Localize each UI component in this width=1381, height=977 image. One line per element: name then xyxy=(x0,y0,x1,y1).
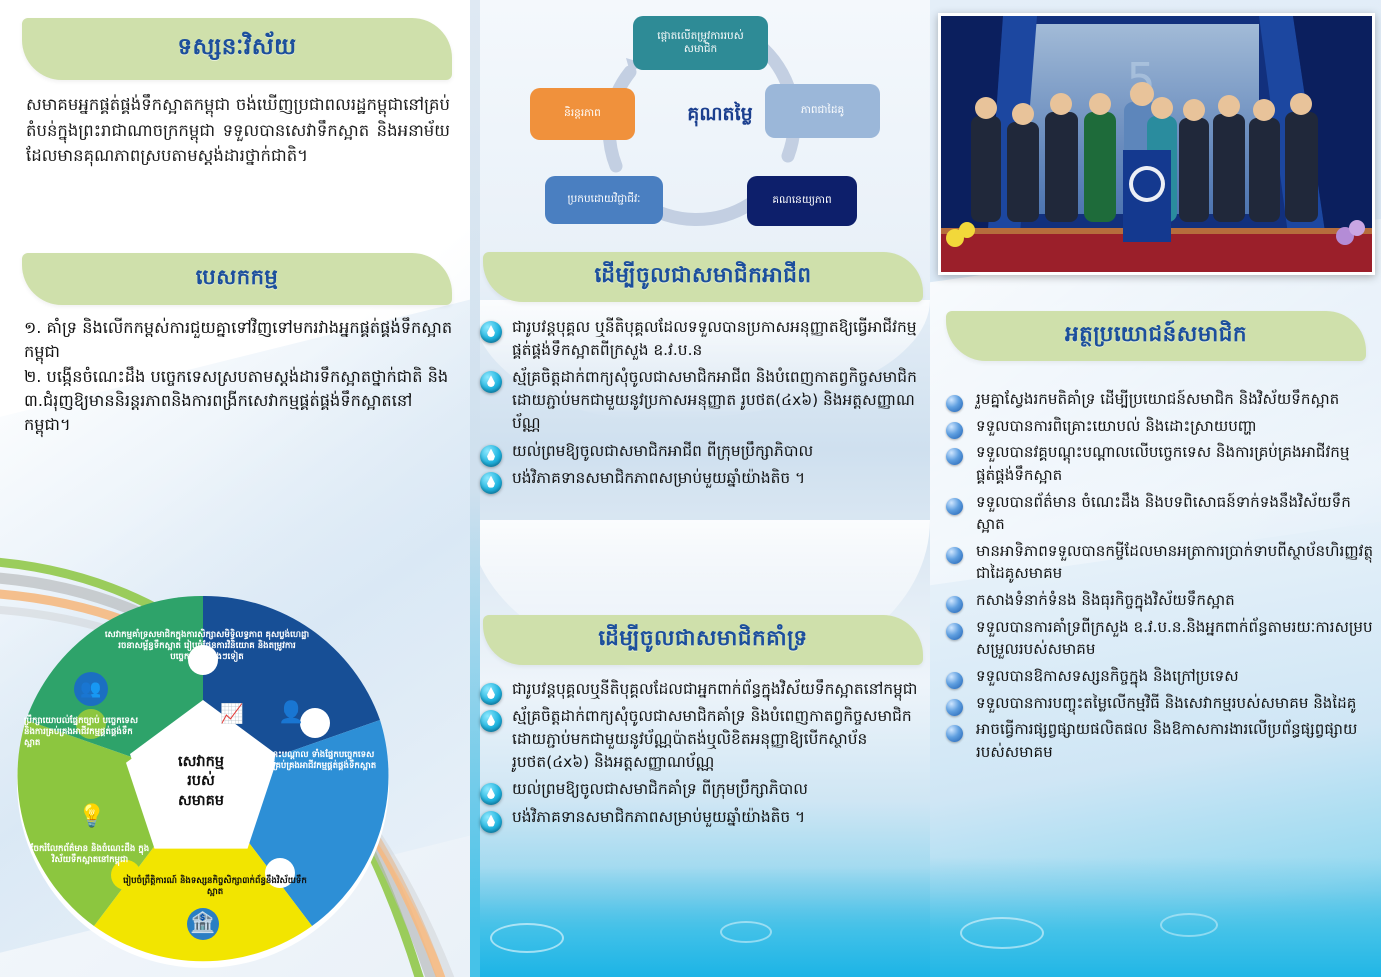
water-drop-icon xyxy=(480,321,502,343)
event-photo-illustration: 5 xyxy=(941,16,1372,272)
list-item-text: ស្ម័គ្រចិត្តដាក់ពាក្យសុំចូលជាសមាជិកអាជីព… xyxy=(512,368,917,432)
supporting-member-title: ដើម្បីចូលជាសមាជិកគាំទ្រ xyxy=(598,625,807,656)
mission-item: ២. បង្កើនចំណេះដឹង បច្ចេកទេសស្របតាមស្តង់ដ… xyxy=(24,365,454,389)
list-item-text: ស្ម័គ្រចិត្តដាក់ពាក្យសុំចូលជាសមាជិកគាំទ្… xyxy=(512,707,912,771)
supporting-member-list: ជារូបវន្តបុគ្គលឬនីតិបុគ្គលដែលជាអ្នកពាក់ព… xyxy=(478,678,926,833)
wheel-label-green: ប្រឹក្សាយោបល់ផ្នែកច្បាប់ បច្ចេកទេស និងកា… xyxy=(24,716,144,750)
list-item-text: អាចធ្វើការផ្សព្វផ្សាយផលិតផល និងឱកាសការងា… xyxy=(976,720,1357,761)
value-node-right-label: ភាពជាដៃគូ xyxy=(801,104,844,117)
bullet-ball-icon xyxy=(946,672,963,689)
bullet-ball-icon xyxy=(946,395,963,412)
mission-title: បេសកកម្ម xyxy=(196,264,278,295)
water-drop-icon xyxy=(480,445,502,467)
list-item-text: ទទួលបានការបញ្ចុះតម្លៃលើកម្មវិធី និងសេវាក… xyxy=(976,694,1356,712)
bullet-ball-icon xyxy=(946,498,963,515)
value-node-right: ភាពជាដៃគូ xyxy=(765,84,880,138)
associate-member-heading-band: ដើម្បីចូលជាសមាជិកអាជីព xyxy=(483,252,923,302)
water-drop-icon xyxy=(480,811,502,833)
network-icon: 🏦 xyxy=(190,910,220,940)
list-item-text: យល់ព្រមឱ្យចូលជាសមាជិកអាជីព ពីក្រុមប្រឹក្… xyxy=(512,442,813,460)
water-presenter-icon: 👤 xyxy=(278,700,312,734)
mission-list: ១. គាំទ្រ និងលើកកម្ពស់ការជួយគ្នាទៅវិញទៅម… xyxy=(24,316,454,437)
water-drop-icon xyxy=(480,472,502,494)
bullet-ball-icon xyxy=(946,448,963,465)
bullet-ball-icon xyxy=(946,596,963,613)
value-node-bottom-right-label: គណនេយ្យភាព xyxy=(772,194,831,207)
brochure-page: ទស្សនៈវិស័យ សមាគមអ្នកផ្គត់ផ្គង់ទឹកស្អាតក… xyxy=(0,0,1381,977)
list-item: ស្ម័គ្រចិត្តដាក់ពាក្យសុំចូលជាសមាជិកគាំទ្… xyxy=(478,705,926,774)
list-item: មានអាទិភាពទទួលបានកម្ចីដែលមានអត្រាការប្រា… xyxy=(942,540,1374,585)
list-item: បង់វិភាគទានសមាជិកភាពសម្រាប់មួយឆ្នាំយ៉ាងត… xyxy=(478,467,926,490)
meeting-icon: 📈 xyxy=(220,702,250,728)
list-item-text: ទទួលបានព័ត៌មាន ចំណេះដឹង និងបទពិសោធន៍ទាក់… xyxy=(976,493,1351,534)
list-item-text: បង់វិភាគទានសមាជិកភាពសម្រាប់មួយឆ្នាំយ៉ាងត… xyxy=(512,469,805,487)
list-item: ទទួលបានការបញ្ចុះតម្លៃលើកម្មវិធី និងសេវាក… xyxy=(942,692,1374,715)
list-item-text: ជារូបវន្តបុគ្គលឬនីតិបុគ្គលដែលជាអ្នកពាក់ព… xyxy=(512,680,917,698)
list-item: បង់វិភាគទានសមាជិកភាពសម្រាប់មួយឆ្នាំយ៉ាងត… xyxy=(478,806,926,829)
water-drop-icon xyxy=(480,710,502,732)
list-item: ទទួលបានវគ្គបណ្តុះបណ្តាលលើបច្ចេកទេស និងកា… xyxy=(942,441,1374,486)
services-wheel: សេវាកម្ម របស់ សមាគម 👥 📈 👤 💡 🏦 សេវាកម្មគា… xyxy=(8,588,398,976)
value-node-bottom-right: គណនេយ្យភាព xyxy=(747,176,857,226)
associate-member-list: ជារូបវន្តបុគ្គល ឬនីតិបុគ្គលដែលទទួលបានប្រ… xyxy=(478,316,926,494)
list-item: ទទួលបានព័ត៌មាន ចំណេះដឹង និងបទពិសោធន៍ទាក់… xyxy=(942,491,1374,536)
list-item: ទទួលបានការពិគ្រោះយោបល់ និងដោះស្រាយបញ្ហា xyxy=(942,415,1374,438)
value-node-top-label: ផ្តោតលើតម្រូវការរបស់ សមាជិក xyxy=(657,30,743,56)
vision-body: សមាគមអ្នកផ្គត់ផ្គង់ទឹកស្អាតកម្ពុជា ចង់ឃើ… xyxy=(26,92,450,169)
mission-heading-band: បេសកកម្ម xyxy=(22,253,452,305)
list-item-text: យល់ព្រមឱ្យចូលជាសមាជិកគាំទ្រ ពីក្រុមប្រឹក… xyxy=(512,780,808,798)
water-drop-icon xyxy=(480,371,502,393)
value-diagram-center-label: គុណតម្លៃ xyxy=(660,102,780,130)
water-drop-icon xyxy=(480,783,502,805)
list-item-text: ទទួលបានការពិគ្រោះយោបល់ និងដោះស្រាយបញ្ហា xyxy=(976,417,1257,435)
right-water-footer xyxy=(930,857,1381,977)
wheel-label-blue: បណ្តុះបណ្តាល ទាំងផ្នែកបច្ចេកទេស និងគ្រប់… xyxy=(262,750,388,772)
list-item: ស្ម័គ្រចិត្តដាក់ពាក្យសុំចូលជាសមាជិកអាជីព… xyxy=(478,366,926,435)
wheel-label-lightgreen: ចែករំលែកព័ត៌មាន និងចំណេះដឹង ក្នុងវិស័យទឹ… xyxy=(28,844,152,866)
bullet-ball-icon xyxy=(946,725,963,742)
bullet-ball-icon xyxy=(946,422,963,439)
consult-icon: 👥 xyxy=(74,672,108,706)
list-item: ទទួលបានឱកាសទស្សនកិច្ចក្នុង និងក្រៅប្រទេស xyxy=(942,665,1374,688)
list-item: រួមគ្នាស្វែងរកមតិគាំទ្រ ដើម្បីប្រយោជន៍សម… xyxy=(942,388,1374,411)
left-panel: ទស្សនៈវិស័យ សមាគមអ្នកផ្គត់ផ្គង់ទឹកស្អាតក… xyxy=(0,0,470,977)
value-diagram: ផ្តោតលើតម្រូវការរបស់ សមាជិក ភាពជាដៃគូ គណ… xyxy=(520,6,920,242)
bullet-ball-icon xyxy=(946,699,963,716)
list-item: កសាងទំនាក់ទំនង និងធុរកិច្ចក្នុងវិស័យទឹកស… xyxy=(942,589,1374,612)
list-item-text: កសាងទំនាក់ទំនង និងធុរកិច្ចក្នុងវិស័យទឹកស… xyxy=(976,591,1235,609)
event-photo: 5 xyxy=(938,13,1375,275)
lightbulb-icon: 💡 xyxy=(78,804,112,838)
associate-member-title: ដើម្បីចូលជាសមាជិកអាជីព xyxy=(594,262,811,293)
benefits-title: អត្ថប្រយោជន៍សមាជិក xyxy=(1065,321,1247,352)
list-item: ជារូបវន្តបុគ្គល ឬនីតិបុគ្គលដែលទទួលបានប្រ… xyxy=(478,316,926,362)
wheel-center-text: សេវាកម្ម របស់ សមាគម xyxy=(178,753,224,812)
value-node-left-label: និរន្តរភាព xyxy=(564,107,601,120)
vision-title: ទស្សនៈវិស័យ xyxy=(177,33,296,66)
water-drop-icon xyxy=(480,683,502,705)
benefits-heading-band: អត្ថប្រយោជន៍សមាជិក xyxy=(946,311,1366,361)
mission-item: ១. គាំទ្រ និងលើកកម្ពស់ការជួយគ្នាទៅវិញទៅម… xyxy=(24,316,454,365)
list-item: អាចធ្វើការផ្សព្វផ្សាយផលិតផល និងឱកាសការងា… xyxy=(942,718,1374,763)
list-item-text: ទទួលបានវគ្គបណ្តុះបណ្តាលលើបច្ចេកទេស និងកា… xyxy=(976,443,1349,484)
list-item: ទទួលបានការគាំទ្រពីក្រសួង ឧ.វ.ប.ន.និងអ្នក… xyxy=(942,616,1374,661)
list-item-text: ជារូបវន្តបុគ្គល ឬនីតិបុគ្គលដែលទទួលបានប្រ… xyxy=(512,318,917,359)
mission-item: ៣.ជំរុញឱ្យមាននិរន្តរភាពនិងការពង្រីកសេវាក… xyxy=(24,389,454,438)
list-item: យល់ព្រមឱ្យចូលជាសមាជិកអាជីព ពីក្រុមប្រឹក្… xyxy=(478,440,926,463)
value-node-top: ផ្តោតលើតម្រូវការរបស់ សមាជិក xyxy=(633,16,768,70)
list-item-text: មានអាទិភាពទទួលបានកម្ចីដែលមានអត្រាការប្រា… xyxy=(976,542,1373,583)
list-item-text: បង់វិភាគទានសមាជិកភាពសម្រាប់មួយឆ្នាំយ៉ាងត… xyxy=(512,808,805,826)
list-item-text: ទទួលបានឱកាសទស្សនកិច្ចក្នុង និងក្រៅប្រទេស xyxy=(976,667,1239,685)
benefits-list: រួមគ្នាស្វែងរកមតិគាំទ្រ ដើម្បីប្រយោជន៍សម… xyxy=(942,388,1374,768)
value-node-left: និរន្តរភាព xyxy=(530,88,635,140)
bullet-ball-icon xyxy=(946,547,963,564)
wheel-label-yellow: រៀបចំព្រឹត្តិការណ៍ និងទស្សនកិច្ចសិក្សា៣ក… xyxy=(118,876,312,898)
bullet-ball-icon xyxy=(946,623,963,640)
value-node-bottom-left: ប្រកបដោយវិជ្ជាជីវៈ xyxy=(545,176,663,224)
list-item-text: រួមគ្នាស្វែងរកមតិគាំទ្រ ដើម្បីប្រយោជន៍សម… xyxy=(976,390,1339,408)
list-item: ជារូបវន្តបុគ្គលឬនីតិបុគ្គលដែលជាអ្នកពាក់ព… xyxy=(478,678,926,701)
value-node-bottom-left-label: ប្រកបដោយវិជ្ជាជីវៈ xyxy=(568,193,641,206)
supporting-member-heading-band: ដើម្បីចូលជាសមាជិកគាំទ្រ xyxy=(483,615,923,665)
vision-heading-band: ទស្សនៈវិស័យ xyxy=(22,18,452,80)
middle-water-footer xyxy=(470,867,930,977)
list-item: យល់ព្រមឱ្យចូលជាសមាជិកគាំទ្រ ពីក្រុមប្រឹក… xyxy=(478,778,926,801)
list-item-text: ទទួលបានការគាំទ្រពីក្រសួង ឧ.វ.ប.ន.និងអ្នក… xyxy=(976,618,1373,659)
wheel-label-navy: សេវាកម្មគាំទ្រសមាជិកក្នុងការសិក្សាសមិទ្ធ… xyxy=(104,630,310,664)
